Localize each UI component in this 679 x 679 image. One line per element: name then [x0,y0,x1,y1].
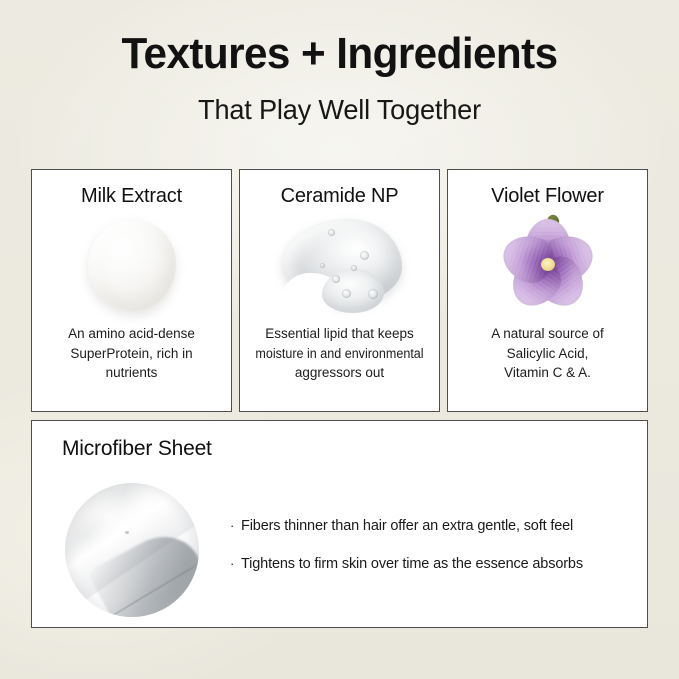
flower-center [541,258,555,271]
card-description-line: A natural source of [491,326,604,341]
gel-bubble [342,289,351,298]
list-item: · Fibers thinner than hair offer an extr… [230,517,630,537]
card-title: Violet Flower [491,185,604,207]
ingredient-card-milk-extract: Milk Extract An amino acid-dense SuperPr… [31,169,232,412]
card-title: Ceramide NP [281,185,399,207]
microfiber-sheet-photo [65,483,199,617]
page-subtitle: That Play Well Together [10,94,669,126]
photo-vignette [65,483,199,617]
ingredients-infographic: Textures + Ingredients That Play Well To… [0,0,679,679]
violet-flower-icon [496,215,600,315]
card-description-line: Vitamin C & A. [504,365,591,380]
bullet-marker-icon: · [230,555,241,573]
card-description-line: SuperProtein, rich in [70,346,192,361]
card-description: A natural source of Salicylic Acid, Vita… [456,324,639,383]
list-item: · Tightens to firm skin over time as the… [230,555,630,575]
panel-title: Microfiber Sheet [62,437,212,461]
card-description-line: nutrients [106,365,158,380]
gel-bubble [320,263,325,268]
milk-blob-icon [88,219,176,311]
header: Textures + Ingredients That Play Well To… [0,30,679,126]
card-description: Essential lipid that keeps moisture in a… [248,324,431,383]
microfiber-bullet-list: · Fibers thinner than hair offer an extr… [230,517,630,592]
microfiber-sheet-panel: Microfiber Sheet · Fibers thinner than h… [31,420,648,628]
bullet-marker-icon: · [230,517,241,535]
violet-flower-visual [456,213,639,318]
card-description-line: An amino acid-dense [68,326,195,341]
gel-bubble [368,289,378,299]
card-description-line: moisture in and environmental [254,344,424,364]
gel-droplet-icon [276,217,404,315]
gel-bubble [328,229,335,236]
card-description-line: Salicylic Acid, [507,346,589,361]
card-description-line: Essential lipid that keeps [265,326,414,341]
milk-extract-visual [40,213,223,318]
gel-body [276,217,404,315]
ingredient-card-row: Milk Extract An amino acid-dense SuperPr… [31,169,648,412]
ingredient-card-ceramide-np: Ceramide NP [239,169,440,412]
list-item-text: Tightens to firm skin over time as the e… [241,555,630,575]
ingredient-card-violet-flower: Violet Flower A natural source of Salicy… [447,169,648,412]
card-title: Milk Extract [81,185,182,207]
list-item-text: Fibers thinner than hair offer an extra … [241,517,630,537]
card-description-line: aggressors out [295,365,384,380]
gel-bubble [360,251,369,260]
ceramide-np-visual [248,213,431,318]
gel-bubble [332,275,340,283]
gel-bubble [351,265,357,271]
page-title: Textures + Ingredients [14,30,666,78]
card-description: An amino acid-dense SuperProtein, rich i… [40,324,223,383]
